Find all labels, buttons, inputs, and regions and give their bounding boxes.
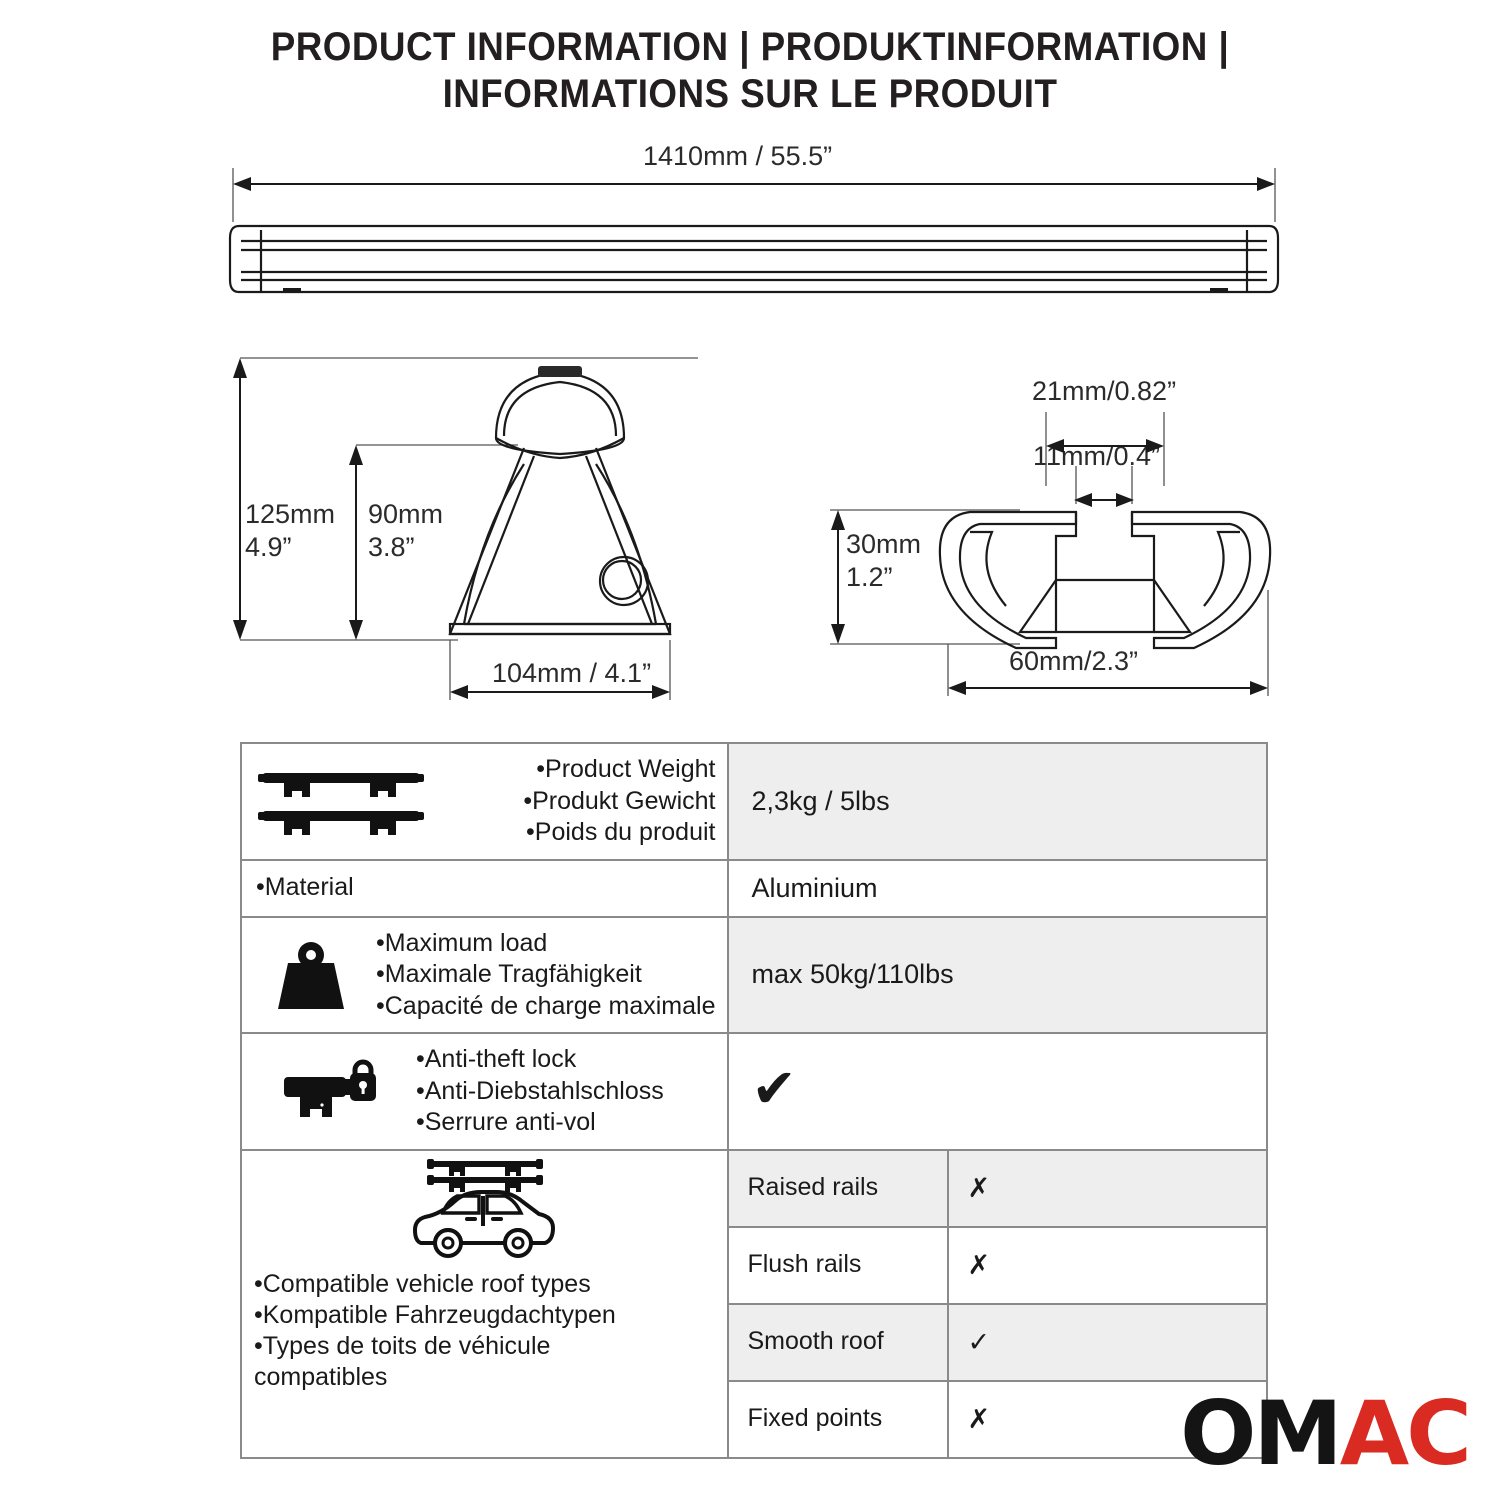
value-maximum-load: max 50kg/110lbs	[728, 917, 1267, 1034]
roof-type-row-raised-rails: Raised rails ✗	[729, 1151, 1266, 1227]
table-row-roof-types: •Compatible vehicle roof types •Kompatib…	[241, 1150, 1267, 1458]
roof-type-row-smooth-roof: Smooth roof ✓	[729, 1304, 1266, 1381]
label-cell-roof-types: •Compatible vehicle roof types •Kompatib…	[241, 1150, 728, 1458]
roof-type-mark-cross-icon: ✗	[948, 1227, 1266, 1304]
logo-text-om: OM	[1180, 1382, 1340, 1485]
page-title-line1: PRODUCT INFORMATION | PRODUKTINFORMATION…	[271, 25, 1229, 69]
roof-type-name: Raised rails	[729, 1151, 948, 1227]
label-text-material: •Material	[256, 872, 715, 904]
product-information-sheet: PRODUCT INFORMATION | PRODUKTINFORMATION…	[0, 0, 1500, 1500]
value-anti-theft-lock: ✔	[728, 1033, 1267, 1150]
table-row-product-weight: •Product Weight •Produkt Gewicht •Poids …	[241, 743, 1267, 860]
label-text-anti-theft-lock: •Anti-theft lock •Anti-Diebstahlschloss …	[416, 1044, 715, 1139]
car-with-rack-icon	[242, 1151, 727, 1263]
table-row-material: •Material Aluminium	[241, 860, 1267, 917]
roof-type-name: Flush rails	[729, 1227, 948, 1304]
label-cell-maximum-load: •Maximum load •Maximale Tragfähigkeit •C…	[241, 917, 728, 1034]
label-cell-material: •Material	[241, 860, 728, 917]
foot-front-view	[228, 352, 708, 702]
crossbar-side-view	[225, 168, 1285, 308]
table-row-anti-theft-lock: •Anti-theft lock •Anti-Diebstahlschloss …	[241, 1033, 1267, 1150]
value-material: Aluminium	[728, 860, 1267, 917]
value-product-weight: 2,3kg / 5lbs	[728, 743, 1267, 860]
table-row-maximum-load: •Maximum load •Maximale Tragfähigkeit •C…	[241, 917, 1267, 1034]
crossbar-cross-section	[820, 400, 1290, 700]
specifications-table: •Product Weight •Produkt Gewicht •Poids …	[240, 742, 1268, 1459]
logo-text-ac: AC	[1340, 1382, 1469, 1485]
roof-type-row-flush-rails: Flush rails ✗	[729, 1227, 1266, 1304]
page-title-line2: INFORMATIONS SUR LE PRODUIT	[60, 71, 1440, 118]
weight-icon	[256, 937, 366, 1013]
roof-type-name: Smooth roof	[729, 1304, 948, 1381]
label-text-maximum-load: •Maximum load •Maximale Tragfähigkeit •C…	[376, 928, 715, 1023]
roof-type-mark-check-icon: ✓	[948, 1304, 1266, 1381]
omac-logo: OMAC	[1180, 1390, 1469, 1478]
crossbars-icon	[256, 761, 426, 841]
page-title: PRODUCT INFORMATION | PRODUKTINFORMATION…	[60, 24, 1440, 118]
label-text-roof-types: •Compatible vehicle roof types •Kompatib…	[242, 1269, 727, 1394]
lock-icon	[256, 1055, 406, 1127]
roof-type-name: Fixed points	[729, 1381, 948, 1457]
roof-type-mark-cross-icon: ✗	[948, 1151, 1266, 1227]
label-text-product-weight: •Product Weight •Produkt Gewicht •Poids …	[436, 754, 715, 849]
checkmark-icon: ✔	[751, 1068, 796, 1111]
label-cell-anti-theft-lock: •Anti-theft lock •Anti-Diebstahlschloss …	[241, 1033, 728, 1150]
label-cell-product-weight: •Product Weight •Produkt Gewicht •Poids …	[241, 743, 728, 860]
